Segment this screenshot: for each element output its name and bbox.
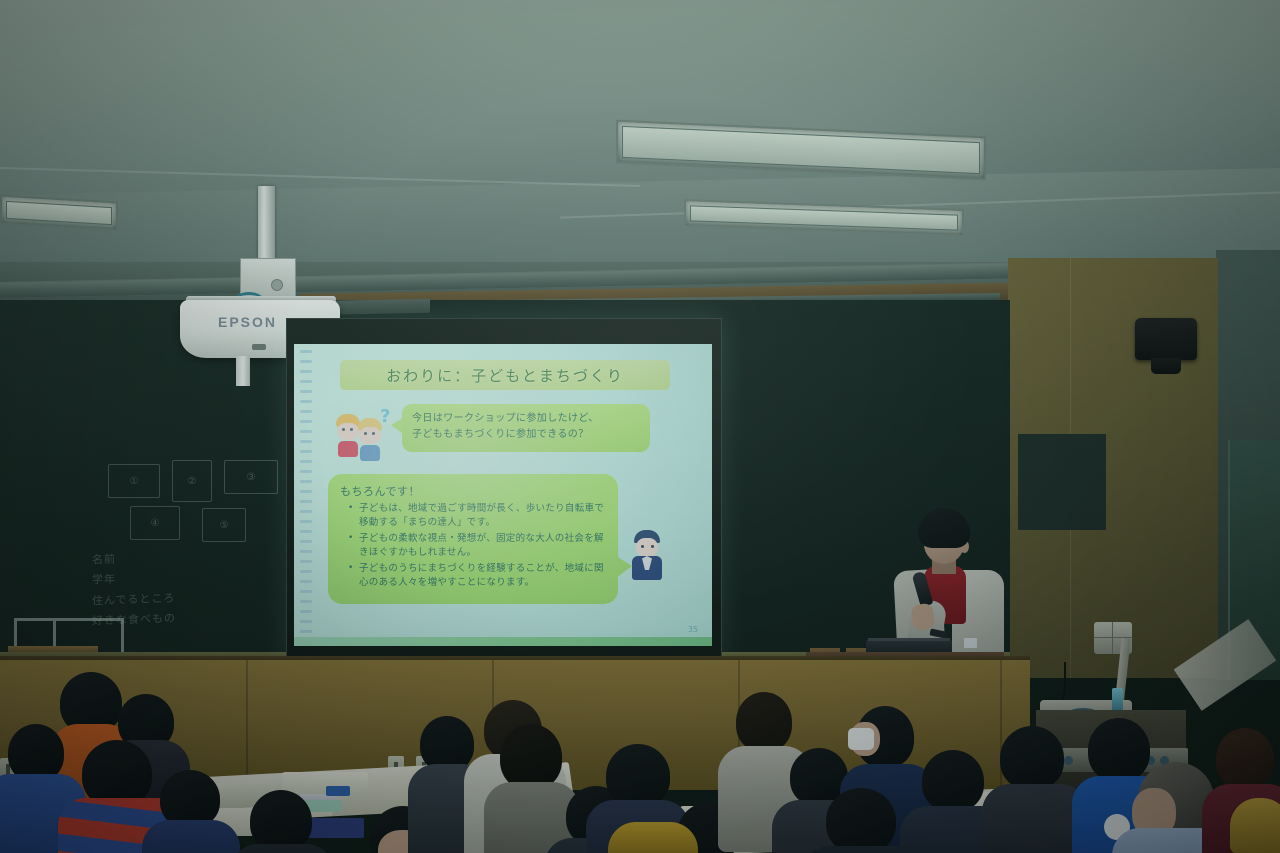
answer-bullet-list: 子どもは、地域で過ごす時間が長く、歩いたり自転車で移動する「まちの達人」です。 … <box>346 502 606 590</box>
wood-panel-seam <box>246 660 248 790</box>
head <box>606 744 670 808</box>
water-bottle[interactable] <box>1112 688 1123 712</box>
torso <box>230 844 334 853</box>
face-mask <box>848 728 874 750</box>
question-speech-bubble: 今日はワークショップに参加したけど、 子どももまちづくりに参加できるの？ <box>402 404 650 452</box>
chalk-box-2: ② <box>172 460 212 502</box>
head <box>500 724 562 790</box>
torso <box>608 822 698 853</box>
notebook-spiral-binding <box>300 350 312 640</box>
slide-footer-bar <box>294 637 712 646</box>
epson-logo: EPSON <box>218 314 277 330</box>
projector-lower-stalk <box>236 356 250 386</box>
question-line-2: 子どももまちづくりに参加できるの？ <box>412 427 640 443</box>
torso <box>1230 798 1280 853</box>
slide-page-number: 35 <box>688 625 698 634</box>
paper-sheet <box>282 772 368 794</box>
classroom-photo-scene: ① ② ③ ④ ⑤ 名前 学年 住んでるところ 好きな食べもの ▲ EPSON <box>0 0 1280 853</box>
slide-title-band: おわりに：子どもとまちづくり <box>340 360 670 390</box>
answer-bullet: 子どものうちにまちづくりを経験することが、地域に関心のある人々を増やすことになり… <box>346 562 606 590</box>
presentation-slide: おわりに：子どもとまちづくり ? 今日はワークショップに参加 <box>294 344 712 646</box>
projector-lens <box>252 344 266 350</box>
chalk-note-4: 好きな食べもの <box>92 611 177 630</box>
chalk-box-4: ④ <box>130 506 180 540</box>
wall-speaker-icon <box>1135 318 1197 360</box>
projection-screen: おわりに：子どもとまちづくり ? 今日はワークショップに参加 <box>286 318 722 660</box>
projector-mount-pipe <box>258 186 275 264</box>
chalk-note-2: 学年 <box>92 572 117 589</box>
question-line-1: 今日はワークショップに参加したけど、 <box>412 411 640 427</box>
head <box>1216 728 1274 790</box>
chalk-box-3: ③ <box>224 460 278 494</box>
answer-lead-text: もちろんです！ <box>340 483 606 500</box>
chalk-note-1: 名前 <box>92 552 117 569</box>
name-badge <box>964 638 977 648</box>
presenter-hair <box>918 508 970 548</box>
children-illustration-icon: ? <box>336 406 398 462</box>
small-blue-item <box>326 786 350 796</box>
slide-title-text: おわりに：子どもとまちづくり <box>386 365 624 386</box>
head <box>736 692 792 752</box>
wall-dark-panel <box>1018 434 1106 530</box>
man-illustration-icon <box>626 530 668 582</box>
chalk-box-1: ① <box>108 464 160 498</box>
torso <box>142 820 240 853</box>
head <box>1000 726 1064 790</box>
head <box>826 788 896 853</box>
chalk-note-3: 住んでるところ <box>92 591 176 610</box>
chalk-box-5: ⑤ <box>202 508 246 542</box>
head <box>1088 718 1150 782</box>
answer-speech-bubble: もちろんです！ 子どもは、地域で過ごす時間が長く、歩いたり自転車で移動する「まち… <box>328 474 618 604</box>
answer-bullet: 子どもは、地域で過ごす時間が長く、歩いたり自転車で移動する「まちの達人」です。 <box>346 502 606 530</box>
answer-bullet: 子どもの柔軟な視点・発想が、固定的な大人の社会を解きほぐすかもしれません。 <box>346 532 606 560</box>
head <box>250 790 312 852</box>
head <box>922 750 984 812</box>
